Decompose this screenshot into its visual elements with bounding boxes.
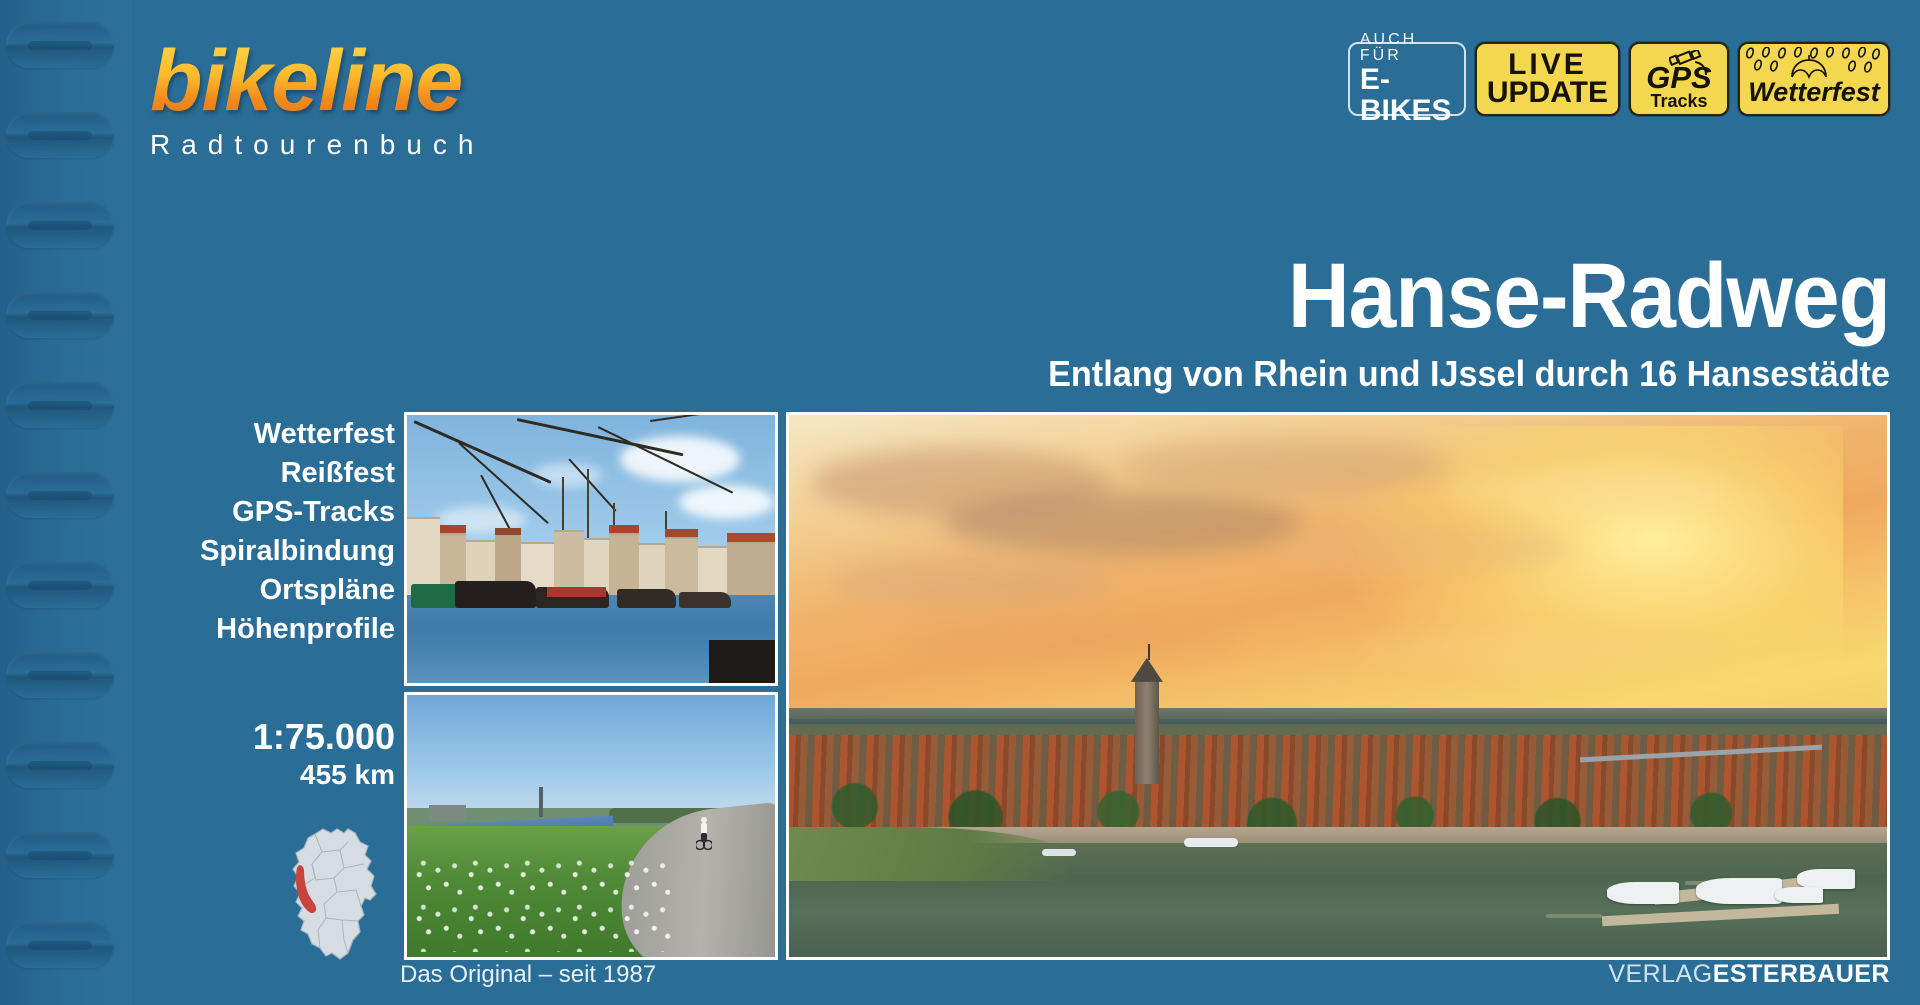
feature-item: Spiralbindung [180, 532, 395, 571]
badge-live-update-line2: UPDATE [1487, 79, 1608, 108]
publisher-logo: VERLAGESTERBAUER [1608, 960, 1890, 989]
binding-coil [6, 832, 114, 878]
publisher-name-bold: ESTERBAUER [1713, 960, 1890, 988]
cyclist-figure [696, 816, 712, 850]
page-title: Hanse-Radweg [867, 250, 1890, 342]
badge-gps-line2: Tracks [1650, 92, 1707, 110]
badge-e-bikes-line1: AUCH FÜR [1360, 32, 1454, 64]
publisher-name-light: VERLAG [1608, 960, 1712, 988]
church-tower [1135, 678, 1159, 784]
spiral-binding [0, 0, 132, 1005]
feature-item: Ortspläne [180, 571, 395, 610]
badge-e-bikes-line2: E-BIKES [1360, 64, 1454, 127]
binding-coil [6, 472, 114, 518]
badge-wetterfest-label: Wetterfest [1748, 79, 1880, 106]
badge-e-bikes: AUCH FÜR E-BIKES [1348, 42, 1466, 116]
scale-block: 1:75.000 455 km [150, 718, 395, 791]
photo-panorama [786, 412, 1890, 960]
binding-coil [6, 652, 114, 698]
brand-logo-subtitle: Radtourenbuch [150, 129, 484, 161]
feature-item: Höhenprofile [180, 610, 395, 649]
feature-item: Wetterfest [180, 415, 395, 454]
photo-harbor [404, 412, 778, 686]
binding-coil [6, 562, 114, 608]
feature-item: Reißfest [180, 454, 395, 493]
binding-coil [6, 382, 114, 428]
umbrella-rain-icon [1740, 47, 1888, 81]
binding-coil [6, 292, 114, 338]
badge-wetterfest: Wetterfest [1738, 42, 1890, 116]
title-block: Hanse-Radweg Entlang von Rhein und IJsse… [790, 250, 1890, 394]
photo-cyclist [404, 692, 778, 960]
tagline: Das Original – seit 1987 [400, 961, 656, 989]
book-cover: bikeline Radtourenbuch AUCH FÜR E-BIKES … [0, 0, 1920, 1005]
binding-coil [6, 22, 114, 68]
binding-coil [6, 742, 114, 788]
satellite-icon [1669, 50, 1717, 81]
route-distance: 455 km [150, 758, 395, 792]
binding-coil [6, 112, 114, 158]
marina-dock [1602, 859, 1866, 935]
brand-logo-text: bikeline [150, 40, 484, 123]
badge-live-update: LIVE UPDATE [1475, 42, 1620, 116]
feature-item: GPS-Tracks [180, 493, 395, 532]
badge-gps-tracks: GPS Tracks [1629, 42, 1729, 116]
page-subtitle: Entlang von Rhein und IJssel durch 16 Ha… [845, 354, 1890, 394]
badge-live-update-line1: LIVE [1508, 51, 1587, 80]
germany-map-inset [282, 820, 400, 965]
map-scale: 1:75.000 [150, 718, 395, 756]
binding-coil [6, 202, 114, 248]
binding-coil [6, 922, 114, 968]
badge-row: AUCH FÜR E-BIKES LIVE UPDATE GPS Tracks [1348, 42, 1890, 116]
brand-logo: bikeline Radtourenbuch [150, 40, 484, 161]
feature-list: Wetterfest Reißfest GPS-Tracks Spiralbin… [180, 415, 395, 649]
